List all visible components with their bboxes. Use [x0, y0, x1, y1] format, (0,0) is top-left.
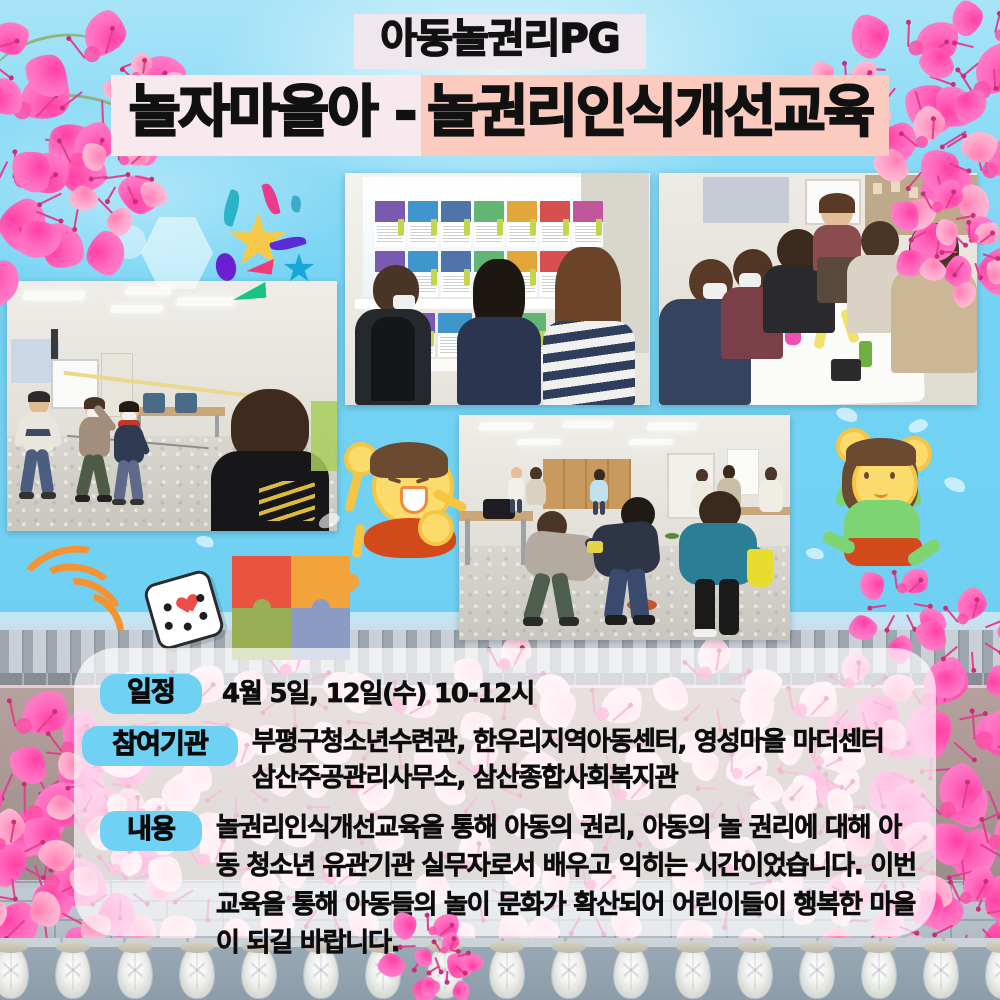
blossom-center: [15, 717, 33, 735]
info-card: [408, 201, 438, 247]
blossom-petal: [936, 771, 1000, 835]
blossom-stamen: [961, 857, 966, 882]
organizations-line-1: 부평구청소년수련관, 한우리지역아동센터, 영성마을 마더센터: [252, 723, 884, 761]
info-row-schedule: 일정 4월 5일, 12일(수) 10-12시: [100, 674, 936, 714]
blossom-stamen: [37, 712, 55, 732]
blossom-stamen: [953, 741, 973, 760]
girl-bangs: [846, 438, 916, 466]
blossom-stamen: [41, 780, 59, 794]
blossom-stamen: [988, 791, 1000, 817]
blossom-stamen: [43, 856, 49, 880]
blossom-stamen: [943, 679, 955, 703]
girl-eye-right: [890, 472, 895, 479]
blossom-center: [41, 871, 62, 892]
blossom-stamen: [7, 920, 26, 938]
baluster: [56, 946, 90, 998]
boy-mouth: [400, 486, 428, 514]
blossom-stamen: [972, 712, 976, 739]
photo-classroom-movement-game: [459, 415, 790, 640]
info-card: [507, 201, 537, 247]
organizations-label-badge: 참여기관: [82, 726, 238, 766]
blossom-petal: [943, 825, 1000, 886]
blossom-stamen: [949, 789, 965, 813]
cartoon-girl-jumping: [808, 412, 968, 592]
blossom-petal: [961, 866, 997, 902]
blossom-stamen: [46, 806, 69, 824]
baluster-cap: [986, 941, 1000, 953]
blossom-stamen: [976, 883, 987, 900]
schedule-label-badge: 일정: [100, 674, 202, 714]
blossom-center: [988, 834, 1000, 850]
blossom-petal: [993, 806, 1000, 850]
blossom-stamen: [52, 857, 73, 869]
info-panel: 일정 4월 5일, 12일(수) 10-12시 참여기관 부평구청소년수련관, …: [74, 648, 936, 936]
blossom-center: [973, 729, 995, 751]
blossom-petal: [0, 896, 9, 935]
blossom-petal: [0, 696, 1, 755]
sakura-blossom: [926, 858, 1000, 937]
blossom-stamen: [959, 713, 984, 720]
blossom-stamen: [935, 925, 953, 935]
blossom-petal: [9, 746, 47, 784]
blossom-petal: [975, 869, 1000, 930]
boy-hair: [370, 442, 448, 478]
blossom-stamen: [10, 823, 15, 842]
blossom-stamen: [980, 844, 1000, 858]
blossom-stamen: [980, 811, 1000, 823]
baluster: [0, 946, 28, 998]
blossom-stamen: [24, 842, 42, 852]
organizations-line-2: 삼산주공관리사무소, 삼산종합사회복지관: [252, 759, 884, 797]
blossom-stamen: [977, 886, 987, 908]
baluster: [986, 946, 1000, 998]
poster-canvas: 아동놀권리PG 놀자마을아 -놀권리인식개선교육: [0, 0, 1000, 1000]
blossom-stamen: [46, 751, 71, 756]
bokeh-circle: [112, 225, 146, 259]
blossom-stamen: [25, 868, 42, 879]
blossom-stamen: [950, 870, 973, 877]
blossom-stamen: [24, 786, 26, 813]
main-title-right: 놀권리인식개선교육: [421, 75, 889, 155]
blossom-stamen: [0, 862, 11, 885]
schedule-value: 4월 5일, 12일(수) 10-12시: [222, 675, 534, 713]
poster-title-block: 아동놀권리PG 놀자마을아 -놀권리인식개선교육: [0, 0, 1000, 156]
info-card: [573, 201, 603, 247]
blossom-petal: [21, 687, 71, 737]
blossom-petal: [0, 833, 35, 893]
sakura-blossom: [948, 794, 1000, 891]
blossom-stamen: [982, 820, 989, 843]
blossom-stamen: [11, 879, 16, 898]
blossom-petal: [0, 805, 30, 849]
blossom-center: [937, 799, 958, 820]
blossom-stamen: [987, 909, 1000, 914]
cartoon-boy-jumping: [340, 424, 466, 572]
sakura-blossom: [0, 796, 48, 891]
puzzle-pieces: [232, 556, 350, 660]
blossom-stamen: [34, 771, 48, 794]
blossom-petal: [993, 796, 1000, 858]
blossom-petal: [23, 887, 68, 932]
blossom-stamen: [951, 883, 961, 901]
info-row-organizations: 참여기관 부평구청소년수련관, 한우리지역아동센터, 영성마을 마더센터 삼산주…: [82, 726, 936, 797]
boy-hand-right: [418, 510, 454, 546]
blossom-petal: [931, 758, 988, 815]
orange-streamer: [10, 548, 140, 638]
heart-pip: [170, 588, 194, 611]
photo-card-wall-viewing: [345, 173, 650, 405]
blossom-center: [959, 891, 972, 904]
photo-workshop-rope-game: [7, 281, 337, 531]
info-card: [474, 201, 504, 247]
blossom-stamen: [49, 734, 63, 752]
blossom-stamen: [34, 865, 44, 891]
blossom-stamen: [0, 895, 17, 901]
info-row-content: 내용 놀권리인식개선교육을 통해 아동의 권리, 아동의 놀 권리에 대해 아동…: [100, 811, 936, 963]
girl-mouth: [874, 488, 888, 498]
blossom-petal: [25, 877, 78, 930]
info-card: [441, 201, 471, 247]
info-card: [540, 201, 570, 247]
blossom-petal: [0, 803, 59, 863]
baluster-cap: [0, 941, 28, 953]
main-title-left: 놀자마을아 -: [111, 75, 421, 155]
program-name: 아동놀권리PG: [354, 14, 645, 69]
blossom-petal: [0, 768, 12, 835]
main-title-row: 놀자마을아 -놀권리인식개선교육: [0, 75, 1000, 155]
content-text: 놀권리인식개선교육을 통해 아동의 권리, 아동의 놀 권리에 대해 아동 청소…: [216, 809, 922, 963]
blossom-petal: [22, 802, 69, 849]
blossom-center: [0, 836, 8, 852]
blossom-petal: [980, 699, 1000, 758]
sakura-blossom: [0, 672, 78, 780]
blossom-stamen: [1, 774, 13, 798]
blossom-petal: [971, 703, 1000, 764]
info-card: [375, 201, 405, 247]
blossom-petal: [19, 815, 65, 861]
content-label-badge: 내용: [100, 811, 202, 851]
blossom-center: [23, 803, 46, 826]
girl-eye-left: [864, 472, 869, 479]
blossom-stamen: [962, 784, 969, 809]
photo-table-craft-activity: [659, 173, 977, 405]
blossom-stamen: [9, 702, 16, 727]
baluster-cap: [56, 941, 90, 953]
